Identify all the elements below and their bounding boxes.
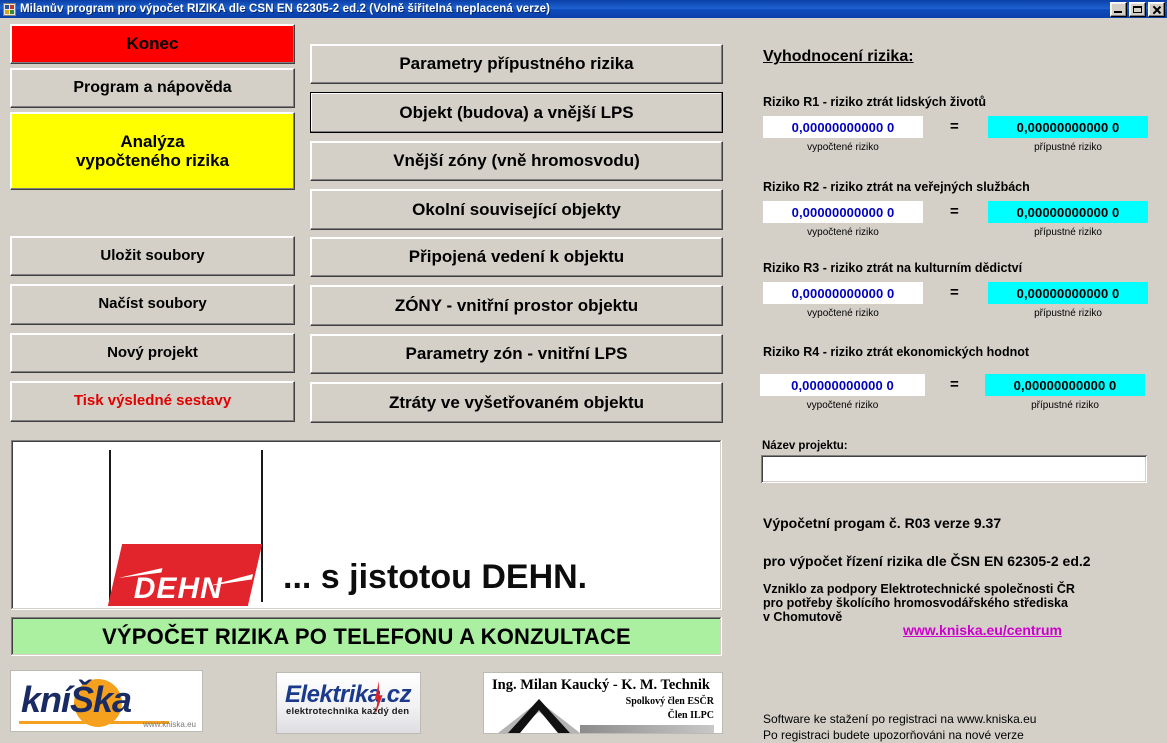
dehn-logo-mark: DEHN	[108, 544, 262, 606]
app-icon	[3, 3, 16, 16]
dehn-slogan: ... s jistotou DEHN.	[283, 558, 587, 597]
kaucky-title: Ing. Milan Kaucký - K. M. Technik	[492, 677, 710, 694]
kniska-wordmark-part2: ka	[93, 679, 131, 720]
risk-r3-title: Riziko R3 - riziko ztrát na kulturním dě…	[763, 261, 1022, 275]
minimize-button[interactable]	[1110, 2, 1127, 17]
evaluation-heading: Vyhodnocení rizika:	[763, 48, 914, 66]
kaucky-accent-bar	[580, 725, 714, 733]
button-analyza-vypocteneho-rizika[interactable]: Analýza vypočteného rizika	[10, 112, 295, 190]
risk-r4-calculated-value[interactable]: 0,00000000000 0	[760, 374, 925, 396]
risk-r1-calculated-value[interactable]: 0,00000000000 0	[763, 116, 923, 138]
roof-icon	[498, 699, 580, 733]
button-vnejsi-zony[interactable]: Vnější zóny (vně hromosvodu)	[310, 141, 723, 181]
kaucky-membership-line1: Spolkový člen ESČR	[626, 696, 714, 707]
green-consultation-banner[interactable]: VÝPOČET RIZIKA PO TELEFONU A KONZULTACE	[10, 616, 723, 657]
button-program-a-napoveda[interactable]: Program a nápověda	[10, 68, 295, 108]
risk-r2-allowed-value: 0,00000000000 0	[988, 201, 1148, 223]
footer-line-1: Software ke stažení po registraci na www…	[763, 711, 1036, 727]
logo-kaucky-km-technik[interactable]: Ing. Milan Kaucký - K. M. Technik Spolko…	[483, 672, 723, 734]
kniska-wordmark-part1: kní	[21, 679, 70, 720]
risk-r4-calculated-caption: vypočtené riziko	[760, 400, 925, 411]
footer-line-2: Po registraci budete upozorňováni na nov…	[763, 727, 1024, 743]
button-parametry-pripustneho-rizika[interactable]: Parametry přípustného rizika	[310, 44, 723, 84]
window-controls	[1110, 2, 1165, 17]
risk-r4-allowed-value: 0,00000000000 0	[985, 374, 1145, 396]
support-line-3: v Chomutově	[763, 610, 842, 625]
button-objekt-budova-a-vnejsi-lps-label: Objekt (budova) a vnější LPS	[399, 103, 633, 122]
risk-r3-calculated-value[interactable]: 0,00000000000 0	[763, 282, 923, 304]
dehn-logo-wordmark: DEHN	[134, 572, 223, 606]
risk-r3-allowed-value: 0,00000000000 0	[988, 282, 1148, 304]
logo-kniska[interactable]: kníŠka www.kniska.eu	[10, 670, 203, 732]
button-parametry-zon-vnitrni-lps-label: Parametry zón - vnitřní LPS	[406, 344, 628, 363]
close-button[interactable]	[1148, 2, 1165, 17]
elektrika-wordmark: Elektrika.cz	[285, 681, 411, 709]
risk-r3-equals-sign: =	[950, 284, 959, 301]
button-ulozit-soubory[interactable]: Uložit soubory	[10, 236, 295, 276]
window-title: Milanův program pro výpočet RIZIKA dle Č…	[20, 3, 1110, 15]
button-zony-vnitrni-prostor-objektu[interactable]: ZÓNY - vnitřní prostor objektu	[310, 285, 723, 326]
button-okolni-souvisejici-objekty-label: Okolní související objekty	[412, 200, 621, 219]
risk-r4-title: Riziko R4 - riziko ztrát ekonomických ho…	[763, 345, 1029, 359]
kaucky-membership-line2: Člen ILPC	[668, 710, 714, 721]
risk-r3-calculated-caption: vypočtené riziko	[763, 308, 923, 319]
risk-r1-calculated-caption: vypočtené riziko	[763, 142, 923, 153]
main-window-client-area: Konec Program a nápověda Analýza vypočte…	[0, 18, 1167, 735]
risk-r2-allowed-caption: přípustné riziko	[988, 227, 1148, 238]
risk-r2-title: Riziko R2 - riziko ztrát na veřejných sl…	[763, 180, 1030, 194]
button-novy-projekt-label: Nový projekt	[107, 345, 198, 362]
risk-r4-equals-sign: =	[950, 376, 959, 393]
button-ulozit-soubory-label: Uložit soubory	[100, 248, 204, 265]
support-line-1: Vzniklo za podpory Elektrotechnické spol…	[763, 582, 1075, 597]
project-name-label: Název projektu:	[762, 440, 848, 452]
logo-elektrika-cz[interactable]: Elektrika.cz elektrotechnika každý den	[276, 672, 421, 734]
window-title-bar[interactable]: Milanův program pro výpočet RIZIKA dle Č…	[0, 0, 1167, 18]
elektrika-tagline: elektrotechnika každý den	[286, 706, 409, 717]
button-zony-vnitrni-prostor-objektu-label: ZÓNY - vnitřní prostor objektu	[395, 296, 638, 315]
risk-r1-allowed-caption: přípustné riziko	[988, 142, 1148, 153]
button-analyza-vypocteneho-rizika-label: Analýza vypočteného rizika	[76, 132, 229, 170]
button-pripojena-vedeni-k-objektu[interactable]: Připojená vedení k objektu	[310, 237, 723, 277]
dehn-logo-panel: DEHN ... s jistotou DEHN.	[10, 439, 723, 611]
project-name-input[interactable]	[761, 455, 1147, 483]
dehn-divider-left	[109, 450, 111, 602]
risk-r1-allowed-value: 0,00000000000 0	[988, 116, 1148, 138]
button-tisk-vysledne-sestavy-label: Tisk výsledné sestavy	[74, 393, 231, 410]
dehn-divider-right	[261, 450, 263, 602]
button-ztraty-ve-vysetrovanem-objektu-label: Ztráty ve vyšetřovaném objektu	[389, 393, 644, 412]
program-version-line: Výpočetní progam č. R03 verze 9.37	[763, 515, 1001, 531]
risk-r2-calculated-value[interactable]: 0,00000000000 0	[763, 201, 923, 223]
button-parametry-zon-vnitrni-lps[interactable]: Parametry zón - vnitřní LPS	[310, 334, 723, 374]
button-nacist-soubory[interactable]: Načíst soubory	[10, 284, 295, 325]
risk-r4-allowed-caption: přípustné riziko	[985, 400, 1145, 411]
button-konec-label: Konec	[127, 34, 179, 53]
button-tisk-vysledne-sestavy[interactable]: Tisk výsledné sestavy	[10, 381, 295, 422]
risk-r2-calculated-caption: vypočtené riziko	[763, 227, 923, 238]
button-program-a-napoveda-label: Program a nápověda	[73, 79, 231, 97]
button-novy-projekt[interactable]: Nový projekt	[10, 333, 295, 373]
button-vnejsi-zony-label: Vnější zóny (vně hromosvodu)	[393, 151, 640, 170]
kniska-url: www.kniska.eu	[143, 720, 196, 729]
program-standard-line: pro výpočet řízení rizika dle ČSN EN 623…	[763, 553, 1091, 569]
button-okolni-souvisejici-objekty[interactable]: Okolní související objekty	[310, 189, 723, 230]
maximize-button[interactable]	[1129, 2, 1146, 17]
button-parametry-pripustneho-rizika-label: Parametry přípustného rizika	[399, 54, 633, 73]
button-ztraty-ve-vysetrovanem-objektu[interactable]: Ztráty ve vyšetřovaném objektu	[310, 382, 723, 423]
risk-r1-equals-sign: =	[950, 118, 959, 135]
centrum-link[interactable]: www.kniska.eu/centrum	[903, 622, 1062, 638]
button-nacist-soubory-label: Načíst soubory	[98, 296, 206, 313]
risk-r3-allowed-caption: přípustné riziko	[988, 308, 1148, 319]
button-objekt-budova-a-vnejsi-lps[interactable]: Objekt (budova) a vnější LPS	[310, 92, 723, 133]
support-line-2: pro potřeby školícího hromosvodářského s…	[763, 596, 1068, 611]
button-konec[interactable]: Konec	[10, 24, 295, 64]
kniska-wordmark: kníŠka	[21, 679, 131, 721]
risk-r2-equals-sign: =	[950, 203, 959, 220]
green-consultation-banner-label: VÝPOČET RIZIKA PO TELEFONU A KONZULTACE	[102, 624, 631, 650]
risk-r1-title: Riziko R1 - riziko ztrát lidských životů	[763, 95, 986, 109]
button-pripojena-vedeni-k-objektu-label: Připojená vedení k objektu	[409, 247, 624, 266]
